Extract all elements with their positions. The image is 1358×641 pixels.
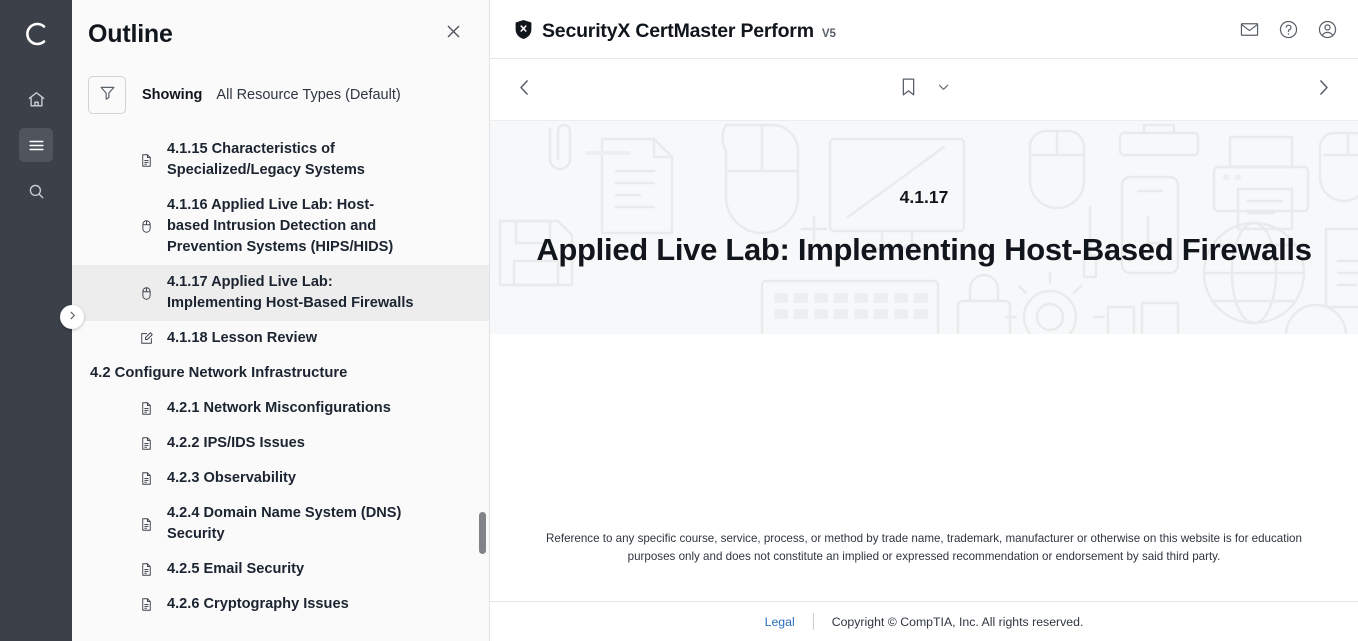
page-title: Outline bbox=[88, 20, 173, 49]
outline-item-4-2-3[interactable]: 4.2.3 Observability bbox=[72, 461, 489, 496]
outline-scrollbar-track[interactable] bbox=[479, 128, 486, 641]
chevron-down-icon bbox=[937, 80, 951, 99]
document-icon bbox=[135, 436, 157, 451]
showing-label: Showing bbox=[142, 87, 202, 103]
bookmark-dropdown-button[interactable] bbox=[937, 80, 951, 99]
document-icon bbox=[135, 597, 157, 612]
document-icon bbox=[135, 153, 157, 168]
copyright-text: Copyright © CompTIA, Inc. All rights res… bbox=[814, 615, 1084, 629]
outline-item-4-2-6[interactable]: 4.2.6 Cryptography Issues bbox=[72, 587, 489, 622]
main-content: SecurityX CertMaster Perform V5 bbox=[490, 0, 1358, 641]
close-icon bbox=[444, 22, 463, 46]
disclaimer-text: Reference to any specific course, servic… bbox=[524, 334, 1324, 565]
outline-item-4-2-4[interactable]: 4.2.4 Domain Name System (DNS) Security bbox=[72, 496, 489, 552]
filter-row: Showing All Resource Types (Default) bbox=[72, 68, 489, 128]
help-circle-icon[interactable] bbox=[1278, 19, 1299, 40]
chevron-right-icon bbox=[67, 308, 78, 326]
chevron-right-icon bbox=[1313, 77, 1334, 103]
left-icon-rail bbox=[0, 0, 72, 641]
rail-item-outline[interactable] bbox=[19, 128, 53, 162]
app-topbar: SecurityX CertMaster Perform V5 bbox=[490, 0, 1358, 59]
showing-value[interactable]: All Resource Types (Default) bbox=[216, 87, 400, 103]
outline-item-label: 4.2.4 Domain Name System (DNS) Security bbox=[167, 503, 415, 545]
tech-icons-watermark-background bbox=[490, 121, 1358, 334]
page-footer: Legal Copyright © CompTIA, Inc. All righ… bbox=[490, 601, 1358, 641]
mail-icon[interactable] bbox=[1239, 19, 1260, 40]
topbar-actions bbox=[1239, 19, 1338, 40]
filter-button[interactable] bbox=[88, 76, 126, 114]
close-outline-button[interactable] bbox=[439, 20, 467, 48]
outline-item-4-2-1[interactable]: 4.2.1 Network Misconfigurations bbox=[72, 391, 489, 426]
outline-section-label: 4.2 Configure Network Infrastructure bbox=[90, 363, 347, 384]
outline-item-label: 4.2.5 Email Security bbox=[167, 559, 304, 580]
outline-section-4-2[interactable]: 4.2 Configure Network Infrastructure bbox=[72, 356, 489, 391]
document-icon bbox=[135, 562, 157, 577]
outline-item-4-2-2[interactable]: 4.2.2 IPS/IDS Issues bbox=[72, 426, 489, 461]
outline-item-4-1-16[interactable]: 4.1.16 Applied Live Lab: Host-based Intr… bbox=[72, 188, 489, 265]
search-icon bbox=[27, 182, 46, 201]
bookmark-icon bbox=[898, 76, 920, 103]
outline-item-label: 4.2.6 Cryptography Issues bbox=[167, 594, 349, 615]
outline-item-label: 4.1.17 Applied Live Lab: Implementing Ho… bbox=[167, 272, 415, 314]
previous-page-button[interactable] bbox=[514, 77, 535, 103]
outline-item-label: 4.2.1 Network Misconfigurations bbox=[167, 398, 391, 419]
bookmark-control bbox=[898, 76, 951, 103]
outline-item-label: 4.2.3 Observability bbox=[167, 468, 296, 489]
document-icon bbox=[135, 401, 157, 416]
lesson-hero-banner: 4.1.17 Applied Live Lab: Implementing Ho… bbox=[490, 121, 1358, 334]
next-page-button[interactable] bbox=[1313, 77, 1334, 103]
chevron-left-icon bbox=[514, 77, 535, 103]
outline-item-label: 4.1.16 Applied Live Lab: Host-based Intr… bbox=[167, 195, 415, 258]
outline-panel: Outline Showing All Resource Types (Defa… bbox=[72, 0, 490, 641]
document-icon bbox=[135, 471, 157, 486]
comptia-c-logo-icon[interactable] bbox=[16, 14, 56, 54]
outline-item-label: 4.2.2 IPS/IDS Issues bbox=[167, 433, 305, 454]
outline-header: Outline bbox=[72, 0, 489, 68]
version-badge: V5 bbox=[822, 28, 836, 40]
account-circle-icon[interactable] bbox=[1317, 19, 1338, 40]
mouse-lab-icon bbox=[135, 286, 157, 301]
filter-funnel-icon bbox=[98, 83, 117, 107]
outline-item-4-1-17[interactable]: 4.1.17 Applied Live Lab: Implementing Ho… bbox=[72, 265, 489, 321]
outline-scroll-area: 4.1.15 Characteristics of Specialized/Le… bbox=[72, 128, 489, 641]
bookmark-button[interactable] bbox=[898, 76, 920, 103]
lesson-body: Reference to any specific course, servic… bbox=[490, 334, 1358, 641]
product-name: SecurityX CertMaster Perform bbox=[542, 20, 814, 43]
outline-tree: 4.1.15 Characteristics of Specialized/Le… bbox=[72, 132, 489, 641]
mouse-lab-icon bbox=[135, 219, 157, 234]
outline-item-label: 4.1.15 Characteristics of Specialized/Le… bbox=[167, 139, 415, 181]
sidebar-collapse-toggle[interactable] bbox=[60, 305, 84, 329]
rail-item-search[interactable] bbox=[19, 174, 53, 208]
outline-item-label: 4.1.18 Lesson Review bbox=[167, 328, 317, 349]
outline-scrollbar-thumb[interactable] bbox=[479, 512, 486, 554]
app-root: Outline Showing All Resource Types (Defa… bbox=[0, 0, 1358, 641]
legal-link[interactable]: Legal bbox=[765, 615, 813, 629]
outline-item-4-2-5[interactable]: 4.2.5 Email Security bbox=[72, 552, 489, 587]
outline-item-4-1-18[interactable]: 4.1.18 Lesson Review bbox=[72, 321, 489, 356]
home-icon bbox=[27, 90, 46, 109]
outline-menu-icon bbox=[27, 136, 46, 155]
lesson-number: 4.1.17 bbox=[900, 187, 949, 208]
rail-item-home[interactable] bbox=[19, 82, 53, 116]
lesson-navbar bbox=[490, 59, 1358, 121]
lesson-title: Applied Live Lab: Implementing Host-Base… bbox=[536, 232, 1311, 268]
shield-x-icon bbox=[514, 19, 533, 45]
document-icon bbox=[135, 517, 157, 532]
pencil-review-icon bbox=[135, 331, 157, 346]
brand: SecurityX CertMaster Perform V5 bbox=[514, 16, 836, 43]
outline-item-4-1-15[interactable]: 4.1.15 Characteristics of Specialized/Le… bbox=[72, 132, 489, 188]
